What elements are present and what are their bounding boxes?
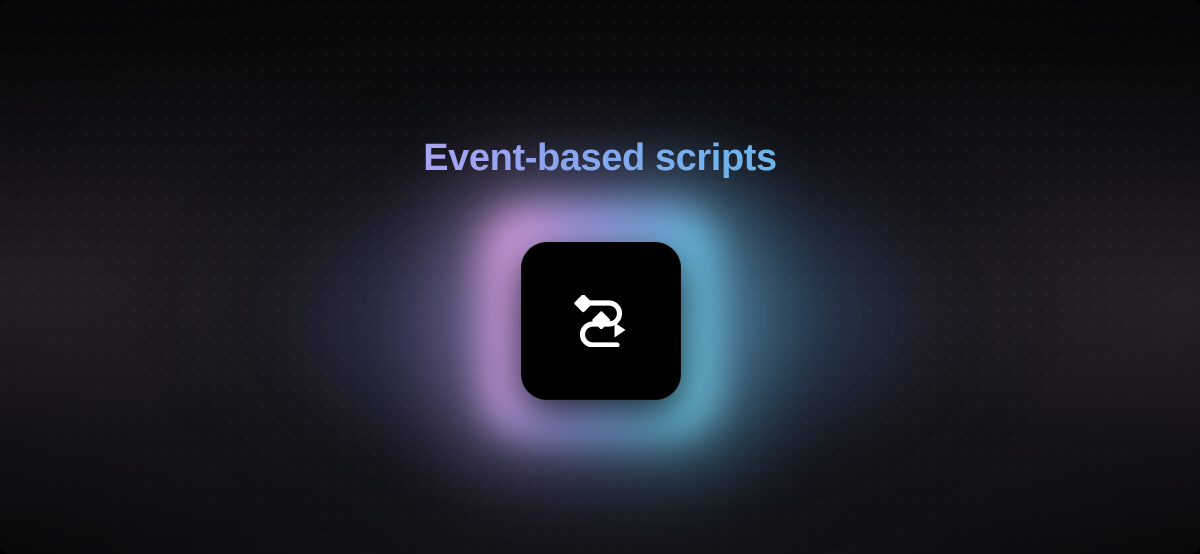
page-title: Event-based scripts (0, 135, 1200, 183)
workflow-route-icon (573, 295, 629, 347)
icon-tile (521, 242, 681, 400)
hero-banner: Event-based scripts (0, 0, 1200, 554)
